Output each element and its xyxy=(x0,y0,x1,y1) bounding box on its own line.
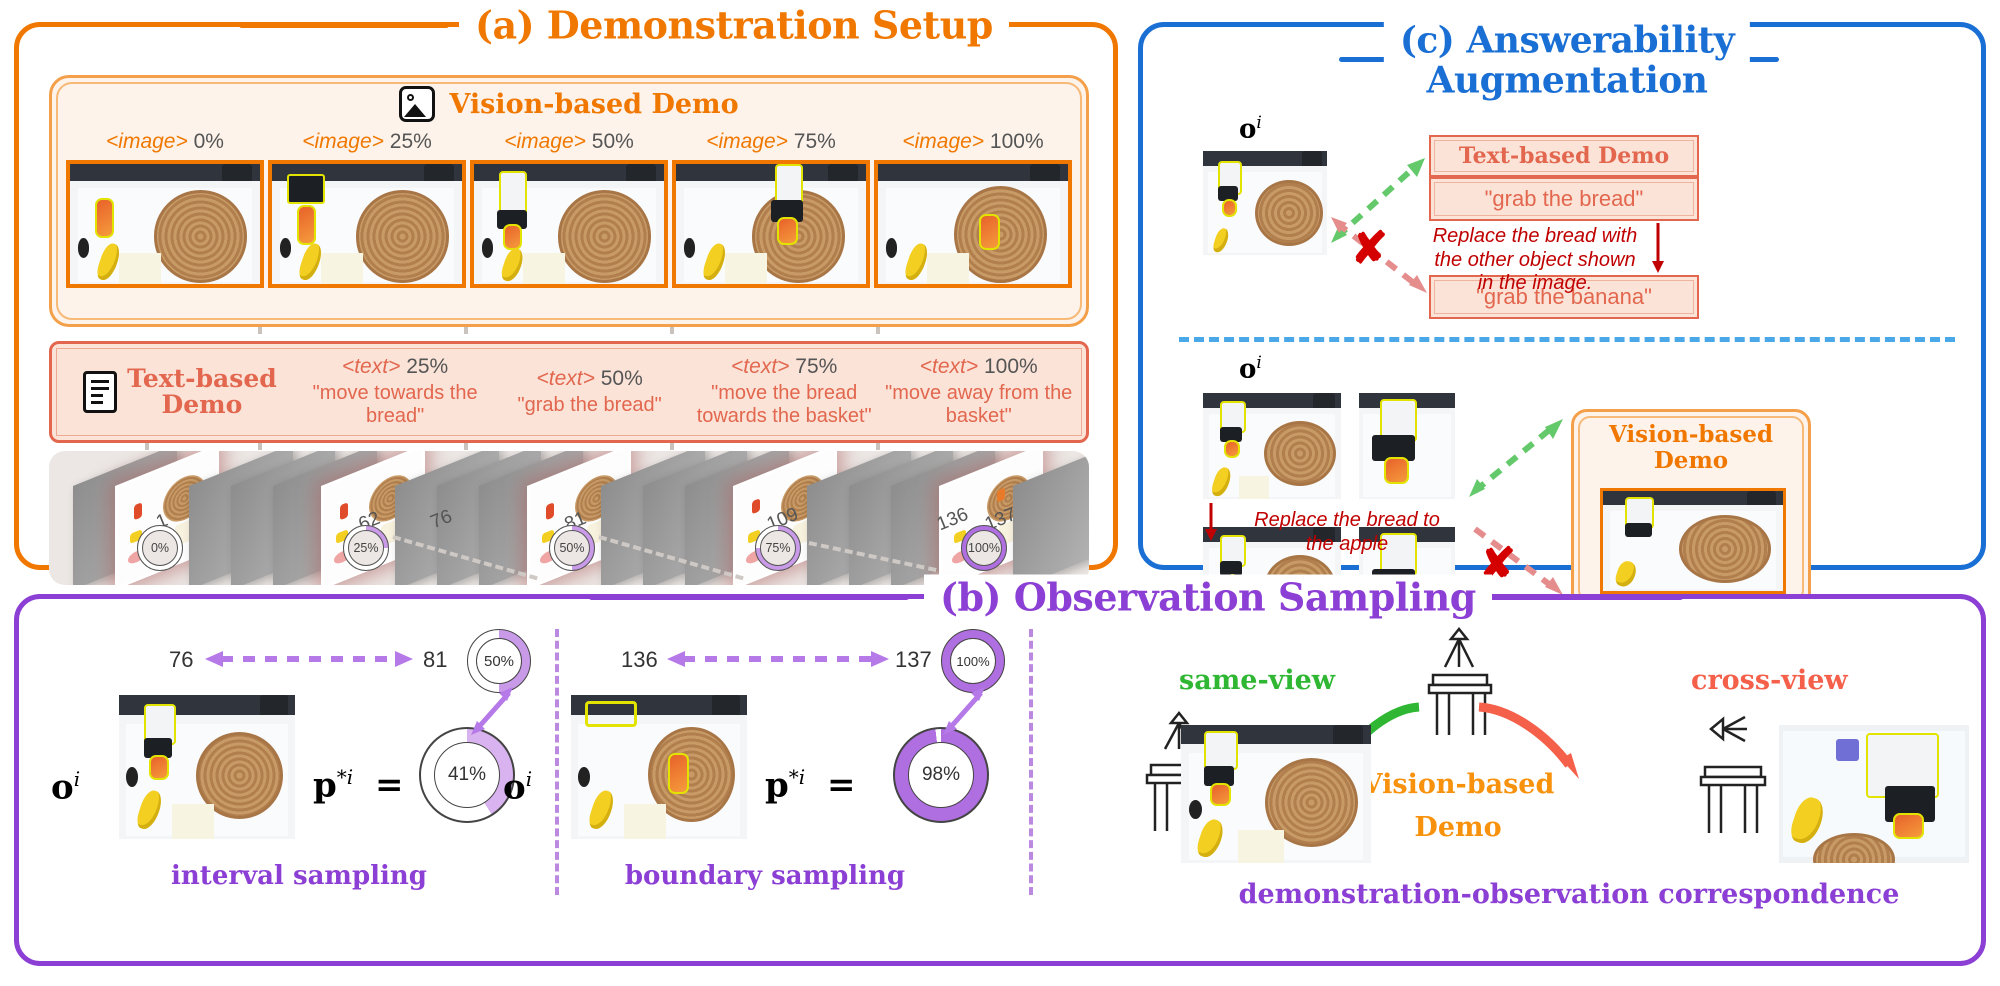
sample-from-index-right: 136 xyxy=(621,647,658,673)
same-view-image xyxy=(1181,725,1371,863)
text-demo-quote: "move towards the bread" xyxy=(298,382,493,429)
image-progress: 100% xyxy=(990,130,1044,153)
section-divider-2 xyxy=(1029,629,1033,895)
vision-frame-0: <image> 0% xyxy=(66,130,264,288)
title-rule-left-b xyxy=(589,595,909,600)
green-accept-arrow-bottom xyxy=(1469,415,1569,499)
pred-symbol: p xyxy=(765,765,789,805)
equals-sign: = xyxy=(375,765,404,805)
vision-based-demo-box-label: Vision-based Demo xyxy=(1574,422,1808,475)
vision-demo-box-image xyxy=(1600,488,1786,594)
boundary-sampling-caption: boundary sampling xyxy=(575,861,955,891)
downward-arrow-top xyxy=(1648,223,1668,275)
prediction-label-right: p*i = xyxy=(765,765,856,805)
observation-symbol-bottom: oi xyxy=(1239,353,1262,385)
text-progress: 25% xyxy=(406,355,448,378)
observation-image-right xyxy=(571,695,747,839)
prediction-ring-left-label: 41% xyxy=(434,742,500,808)
progress-ring-label: 75% xyxy=(760,530,796,566)
pred-superscript: *i xyxy=(789,765,805,789)
panel-answerability-augmentation: (c) Answerability Augmentation oi Text-b… xyxy=(1138,22,1986,570)
panel-c-title-line1: (c) Answerability xyxy=(1400,19,1734,61)
image-progress: 50% xyxy=(592,130,634,153)
text-based-demo-header-box: Text-based Demo xyxy=(1429,135,1699,177)
cross-view-label: cross-view xyxy=(1691,665,1848,696)
text-tag: <text> xyxy=(537,367,595,390)
vision-frame-3: <image> 75% xyxy=(672,130,870,288)
target-ring-right: 100% xyxy=(941,629,1005,693)
text-demo-cell-1: <text> 25% "move towards the bread" xyxy=(298,355,493,429)
observation-label-left: oi xyxy=(51,767,80,807)
progress-ring-label: 25% xyxy=(348,530,384,566)
image-progress: 75% xyxy=(794,130,836,153)
prediction-label-left: p*i = xyxy=(313,765,404,805)
vision-demo-box-line1: Vision-based xyxy=(1609,421,1773,448)
text-demo-cell-4: <text> 100% "move away from the basket" xyxy=(881,355,1076,429)
cross-view-camera-tripod-icon xyxy=(1689,709,1779,839)
obs-superscript: i xyxy=(74,767,80,791)
vision-frame-2: <image> 50% xyxy=(470,130,668,288)
text-demo-quote: "move away from the basket" xyxy=(881,382,1076,429)
panel-c-title: (c) Answerability Augmentation xyxy=(1384,21,1750,100)
text-based-demo-header-label: Text-based Demo xyxy=(1459,143,1669,169)
vision-frame-photo xyxy=(66,160,264,288)
panel-demonstration-setup: (a) Demonstration Setup Vision-based Dem… xyxy=(14,22,1118,570)
observation-image-bottom-left xyxy=(1203,393,1341,499)
obs-symbol: o xyxy=(503,767,526,807)
text-demo-brand: Text-based Demo xyxy=(62,366,298,419)
equals-sign: = xyxy=(827,765,856,805)
panel-a-title: (a) Demonstration Setup xyxy=(459,3,1009,48)
image-progress: 25% xyxy=(390,130,432,153)
image-tag: <image> xyxy=(706,130,788,153)
panel-b-title: (b) Observation Sampling xyxy=(924,575,1492,620)
correct-answer-box: "grab the bread" xyxy=(1429,177,1699,221)
downward-arrow-bottom xyxy=(1203,503,1223,543)
prediction-ring-left: 41% xyxy=(419,727,515,823)
interval-double-arrow-left xyxy=(203,645,415,673)
observation-label-right: oi xyxy=(503,767,532,807)
progress-ring-0: 0% xyxy=(137,525,183,571)
vision-demo-label: Vision-based Demo xyxy=(449,89,738,120)
vision-frame-photo xyxy=(874,160,1072,288)
observation-symbol-top: oi xyxy=(1239,113,1262,145)
panel-c-title-line2: Augmentation xyxy=(1400,61,1734,101)
image-tag: <image> xyxy=(106,130,188,153)
progress-ring-label: 0% xyxy=(142,530,178,566)
cross-view-image xyxy=(1779,725,1969,863)
vision-frame-caption: <image> 100% xyxy=(874,130,1072,154)
vision-frame-1: <image> 25% xyxy=(268,130,466,288)
target-ring-left: 50% xyxy=(467,629,531,693)
text-demo-quote: "move the bread towards the basket" xyxy=(687,382,882,429)
replace-note-bottom: Replace the bread to the apple xyxy=(1239,509,1455,556)
vision-demo-header: Vision-based Demo xyxy=(52,86,1086,122)
vision-frame-caption: <image> 25% xyxy=(268,130,466,154)
vision-frame-caption: <image> 50% xyxy=(470,130,668,154)
vision-frame-photo xyxy=(672,160,870,288)
text-tag: <text> xyxy=(920,355,978,378)
title-rule-left-a xyxy=(239,23,449,28)
observation-image-bottom-right xyxy=(1359,393,1455,499)
text-demo-quote: "grab the bread" xyxy=(492,394,687,418)
vision-demo-box-line2: Demo xyxy=(1654,447,1728,474)
correct-answer-label: "grab the bread" xyxy=(1485,186,1644,212)
observation-image-top xyxy=(1203,151,1327,255)
progress-ring-label: 100% xyxy=(966,530,1002,566)
sample-to-index-left: 81 xyxy=(423,647,447,673)
text-tag: <text> xyxy=(342,355,400,378)
correspondence-caption: demonstration-observation correspondence xyxy=(1129,879,2000,910)
text-demo-cell-2: <text> 50% "grab the bread" xyxy=(492,367,687,417)
ring-link-arrow-right xyxy=(939,685,991,741)
vision-frame-photo xyxy=(268,160,466,288)
pred-symbol: p xyxy=(313,765,337,805)
progress-ring-100: 100% xyxy=(961,525,1007,571)
reject-x-icon-top: ✘ xyxy=(1351,223,1388,274)
text-demo-label: Text-based Demo xyxy=(127,366,277,419)
image-icon xyxy=(399,86,435,122)
ring-link-arrow-left xyxy=(467,685,519,741)
text-based-demo-card: Text-based Demo <text> 25% "move towards… xyxy=(49,341,1089,443)
vision-frame-caption: <image> 0% xyxy=(66,130,264,154)
text-progress: 50% xyxy=(601,367,643,390)
text-demo-label-line1: Text-based xyxy=(127,364,277,393)
sample-to-index-right: 137 xyxy=(895,647,932,673)
text-demo-label-line2: Demo xyxy=(162,390,243,419)
vision-based-demo-card: Vision-based Demo <image> 0% <image> 25% xyxy=(49,75,1089,327)
obs-symbol: o xyxy=(1239,355,1256,385)
vision-frame-row: <image> 0% <image> 25% xyxy=(66,130,1072,288)
vision-frame-4: <image> 100% xyxy=(874,130,1072,288)
text-tag: <text> xyxy=(731,355,789,378)
panel-c-divider xyxy=(1179,337,1955,342)
obs-superscript: i xyxy=(526,767,532,791)
sample-from-index-left: 76 xyxy=(169,647,193,673)
vision-frame-caption: <image> 75% xyxy=(672,130,870,154)
text-progress: 75% xyxy=(795,355,837,378)
progress-ring-75: 75% xyxy=(755,525,801,571)
vision-frame-photo xyxy=(470,160,668,288)
image-progress: 0% xyxy=(194,130,224,153)
vision-based-demo-box: Vision-based Demo xyxy=(1571,409,1811,609)
document-edit-icon xyxy=(83,371,117,413)
interval-sampling-caption: interval sampling xyxy=(119,861,479,891)
target-ring-right-label: 100% xyxy=(950,638,996,684)
text-demo-row: Text-based Demo <text> 25% "move towards… xyxy=(62,348,1076,436)
progress-ring-25: 25% xyxy=(343,525,389,571)
image-tag: <image> xyxy=(302,130,384,153)
obs-superscript: i xyxy=(1256,353,1261,373)
obs-symbol: o xyxy=(51,767,74,807)
replace-note-top: Replace the bread with the other object … xyxy=(1429,225,1641,296)
observation-image-left xyxy=(119,695,295,839)
interval-double-arrow-right xyxy=(665,645,891,673)
obs-superscript: i xyxy=(1256,113,1261,133)
prediction-ring-right: 98% xyxy=(893,727,989,823)
target-ring-left-label: 50% xyxy=(476,638,522,684)
pred-superscript: *i xyxy=(337,765,353,789)
image-tag: <image> xyxy=(902,130,984,153)
progress-ring-label: 50% xyxy=(554,530,590,566)
section-divider-1 xyxy=(555,629,559,895)
prediction-ring-right-label: 98% xyxy=(908,742,974,808)
image-tag: <image> xyxy=(504,130,586,153)
text-demo-cell-3: <text> 75% "move the bread towards the b… xyxy=(687,355,882,429)
vision-demo-center-line1: Vision-based xyxy=(1362,769,1555,800)
vision-demo-center-line2: Demo xyxy=(1414,812,1501,843)
text-progress: 100% xyxy=(984,355,1038,378)
obs-symbol: o xyxy=(1239,115,1256,145)
progress-ring-50: 50% xyxy=(549,525,595,571)
panel-observation-sampling: (b) Observation Sampling 76 81 50% oi p*… xyxy=(14,594,1986,966)
